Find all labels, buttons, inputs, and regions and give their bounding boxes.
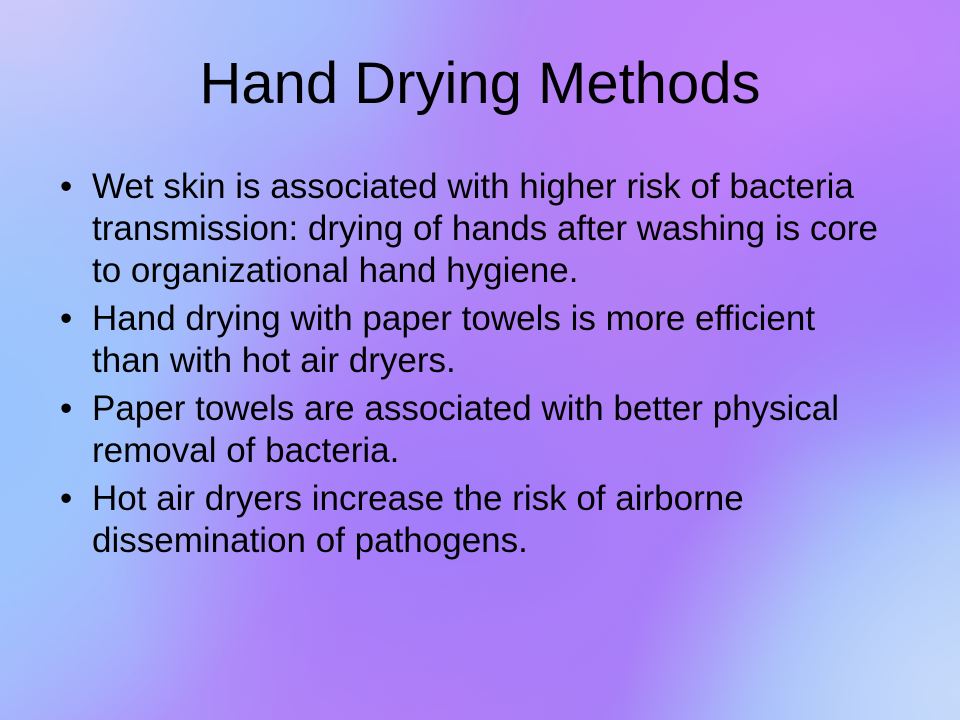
- list-item: • Hand drying with paper towels is more …: [52, 298, 882, 382]
- bullet-point-icon: •: [52, 478, 92, 520]
- bullet-text: Hand drying with paper towels is more ef…: [92, 298, 882, 382]
- presentation-slide: Hand Drying Methods • Wet skin is associ…: [0, 0, 960, 720]
- bullet-text: Paper towels are associated with better …: [92, 388, 882, 472]
- list-item: • Paper towels are associated with bette…: [52, 388, 882, 472]
- list-item: • Wet skin is associated with higher ris…: [52, 166, 882, 292]
- bullet-point-icon: •: [52, 388, 92, 430]
- bullet-point-icon: •: [52, 298, 92, 340]
- bullet-point-icon: •: [52, 166, 92, 208]
- slide-title: Hand Drying Methods: [0, 52, 960, 116]
- bullet-text: Wet skin is associated with higher risk …: [92, 166, 882, 292]
- slide-bullet-list: • Wet skin is associated with higher ris…: [52, 166, 882, 568]
- bullet-text: Hot air dryers increase the risk of airb…: [92, 478, 882, 562]
- list-item: • Hot air dryers increase the risk of ai…: [52, 478, 882, 562]
